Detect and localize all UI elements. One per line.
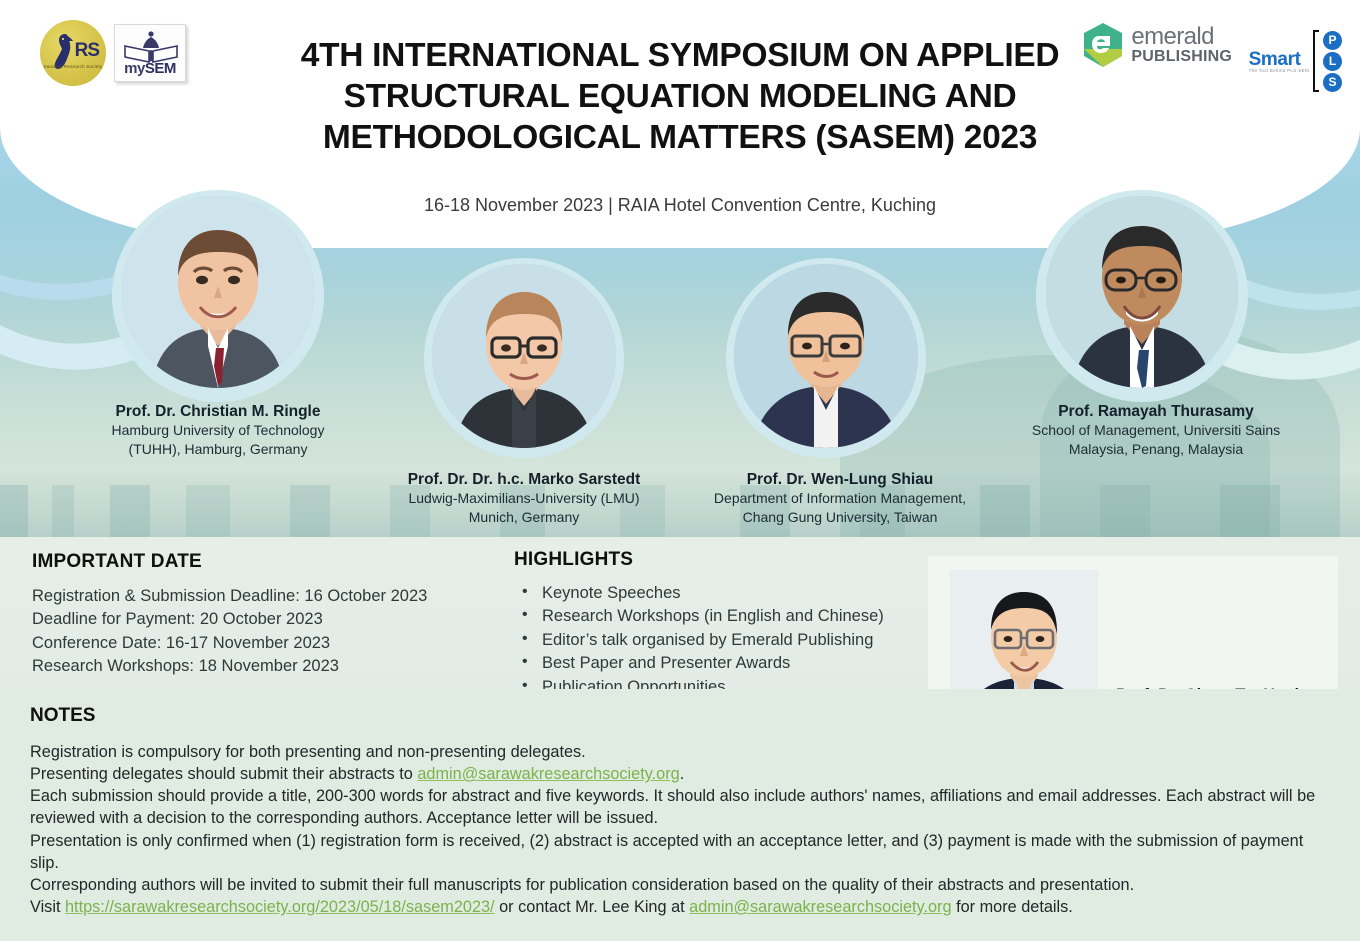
notes-line-2-pre: Presenting delegates should submit their… bbox=[30, 765, 417, 783]
notes-line-5: Corresponding authors will be invited to… bbox=[30, 874, 1330, 896]
poster-subtitle: 16-18 November 2023 | RAIA Hotel Convent… bbox=[220, 195, 1140, 216]
srs-initials: RS bbox=[75, 40, 99, 62]
notes-line-6-pre: Visit bbox=[30, 898, 65, 916]
notes-line-6: Visit https://sarawakresearchsociety.org… bbox=[30, 896, 1330, 918]
important-date-list: Registration & Submission Deadline: 16 O… bbox=[32, 585, 502, 679]
speaker-affiliation-3b: Chang Gung University, Taiwan bbox=[660, 508, 1020, 526]
important-date-item: Registration & Submission Deadline: 16 O… bbox=[32, 585, 502, 608]
portrait-illustration bbox=[734, 264, 918, 448]
mysem-suffix: SEM bbox=[145, 60, 176, 77]
notes-line-2-post: . bbox=[680, 765, 685, 783]
emerald-line2: PUBLISHING bbox=[1131, 49, 1232, 65]
srs-caption: Sarawak Research Society bbox=[40, 64, 106, 69]
speaker-affiliation-2a: Ludwig-Maximilians-University (LMU) bbox=[352, 489, 696, 507]
srs-logo: RS Sarawak Research Society bbox=[40, 20, 106, 86]
portrait-illustration bbox=[432, 264, 616, 448]
portrait-illustration bbox=[1046, 196, 1238, 388]
smartpls-logo: Smart The Tool Behind PLS-SEM P L S bbox=[1249, 30, 1342, 92]
speaker-affiliation-2b: Munich, Germany bbox=[352, 508, 696, 526]
notes-line-6-mid: or contact Mr. Lee King at bbox=[495, 898, 690, 916]
smartpls-tagline: The Tool Behind PLS-SEM bbox=[1249, 68, 1309, 73]
speaker-affiliation-4a: School of Management, Universiti Sains bbox=[970, 421, 1342, 439]
poster-title: 4TH INTERNATIONAL SYMPOSIUM ON APPLIED S… bbox=[220, 36, 1140, 159]
portrait-illustration bbox=[122, 196, 314, 388]
smartpls-bracket-icon bbox=[1313, 30, 1319, 92]
speaker-caption-2: Prof. Dr. Dr. h.c. Marko Sarstedt Ludwig… bbox=[352, 470, 696, 526]
highlights-item: Research Workshops (in English and Chine… bbox=[514, 605, 934, 628]
speaker-affiliation-4b: Malaysia, Penang, Malaysia bbox=[970, 440, 1342, 458]
speaker-name-3: Prof. Dr. Wen-Lung Shiau bbox=[660, 470, 1020, 489]
notes-line-6-post: for more details. bbox=[952, 898, 1073, 916]
notes-line-4: Presentation is only confirmed when (1) … bbox=[30, 830, 1330, 874]
important-date-item: Conference Date: 16-17 November 2023 bbox=[32, 632, 502, 655]
speaker-caption-1: Prof. Dr. Christian M. Ringle Hamburg Un… bbox=[40, 402, 396, 458]
smartpls-wordmark: Smart The Tool Behind PLS-SEM bbox=[1249, 49, 1309, 73]
speaker-portrait-shiau bbox=[734, 264, 918, 448]
smartpls-letter-l: L bbox=[1323, 52, 1342, 71]
notes-body: Registration is compulsory for both pres… bbox=[30, 741, 1330, 918]
contact-email-link[interactable]: admin@sarawakresearchsociety.org bbox=[689, 898, 951, 916]
highlights-item: Editor’s talk organised by Emerald Publi… bbox=[514, 629, 934, 652]
notes-section: NOTES Registration is compulsory for bot… bbox=[0, 689, 1360, 941]
mysem-wordmark: mySEM bbox=[115, 60, 185, 77]
website-link[interactable]: https://sarawakresearchsociety.org/2023/… bbox=[65, 898, 495, 916]
smartpls-letters: P L S bbox=[1323, 31, 1342, 92]
important-date-item: Deadline for Payment: 20 October 2023 bbox=[32, 608, 502, 631]
speaker-affiliation-3a: Department of Information Management, bbox=[660, 489, 1020, 507]
smartpls-letter-s: S bbox=[1323, 73, 1342, 92]
mysem-prefix: my bbox=[124, 60, 145, 77]
notes-heading: NOTES bbox=[30, 705, 1330, 727]
hero-background: RS Sarawak Research Society mySEM bbox=[0, 0, 1360, 537]
smartpls-letter-p: P bbox=[1323, 31, 1342, 50]
speaker-caption-4: Prof. Ramayah Thurasamy School of Manage… bbox=[970, 402, 1342, 458]
open-book-icon bbox=[123, 30, 179, 64]
speaker-name-1: Prof. Dr. Christian M. Ringle bbox=[40, 402, 396, 421]
speaker-caption-3: Prof. Dr. Wen-Lung Shiau Department of I… bbox=[660, 470, 1020, 526]
abstract-email-link[interactable]: admin@sarawakresearchsociety.org bbox=[417, 765, 679, 783]
emerald-line1: emerald bbox=[1131, 25, 1232, 49]
speaker-portrait-sarstedt bbox=[432, 264, 616, 448]
important-date-section: IMPORTANT DATE Registration & Submission… bbox=[32, 551, 502, 679]
speaker-portrait-ringle bbox=[122, 196, 314, 388]
important-date-item: Research Workshops: 18 November 2023 bbox=[32, 655, 502, 678]
speaker-affiliation-1b: (TUHH), Hamburg, Germany bbox=[40, 440, 396, 458]
conference-poster: RS Sarawak Research Society mySEM bbox=[0, 0, 1360, 941]
speaker-affiliation-1a: Hamburg University of Technology bbox=[40, 421, 396, 439]
notes-line-1: Registration is compulsory for both pres… bbox=[30, 741, 1330, 763]
highlights-section: HIGHLIGHTS Keynote Speeches Research Wor… bbox=[514, 549, 934, 699]
highlights-list: Keynote Speeches Research Workshops (in … bbox=[514, 582, 934, 699]
notes-line-2: Presenting delegates should submit their… bbox=[30, 763, 1330, 785]
notes-line-3: Each submission should provide a title, … bbox=[30, 785, 1330, 829]
highlights-item: Keynote Speeches bbox=[514, 582, 934, 605]
speaker-name-2: Prof. Dr. Dr. h.c. Marko Sarstedt bbox=[352, 470, 696, 489]
speaker-name-4: Prof. Ramayah Thurasamy bbox=[970, 402, 1342, 421]
emerald-wordmark: emerald PUBLISHING bbox=[1131, 25, 1232, 65]
highlights-heading: HIGHLIGHTS bbox=[514, 549, 934, 571]
speaker-portrait-ramayah bbox=[1046, 196, 1238, 388]
important-date-heading: IMPORTANT DATE bbox=[32, 551, 502, 573]
mysem-logo: mySEM bbox=[114, 24, 186, 82]
highlights-item: Best Paper and Presenter Awards bbox=[514, 652, 934, 675]
